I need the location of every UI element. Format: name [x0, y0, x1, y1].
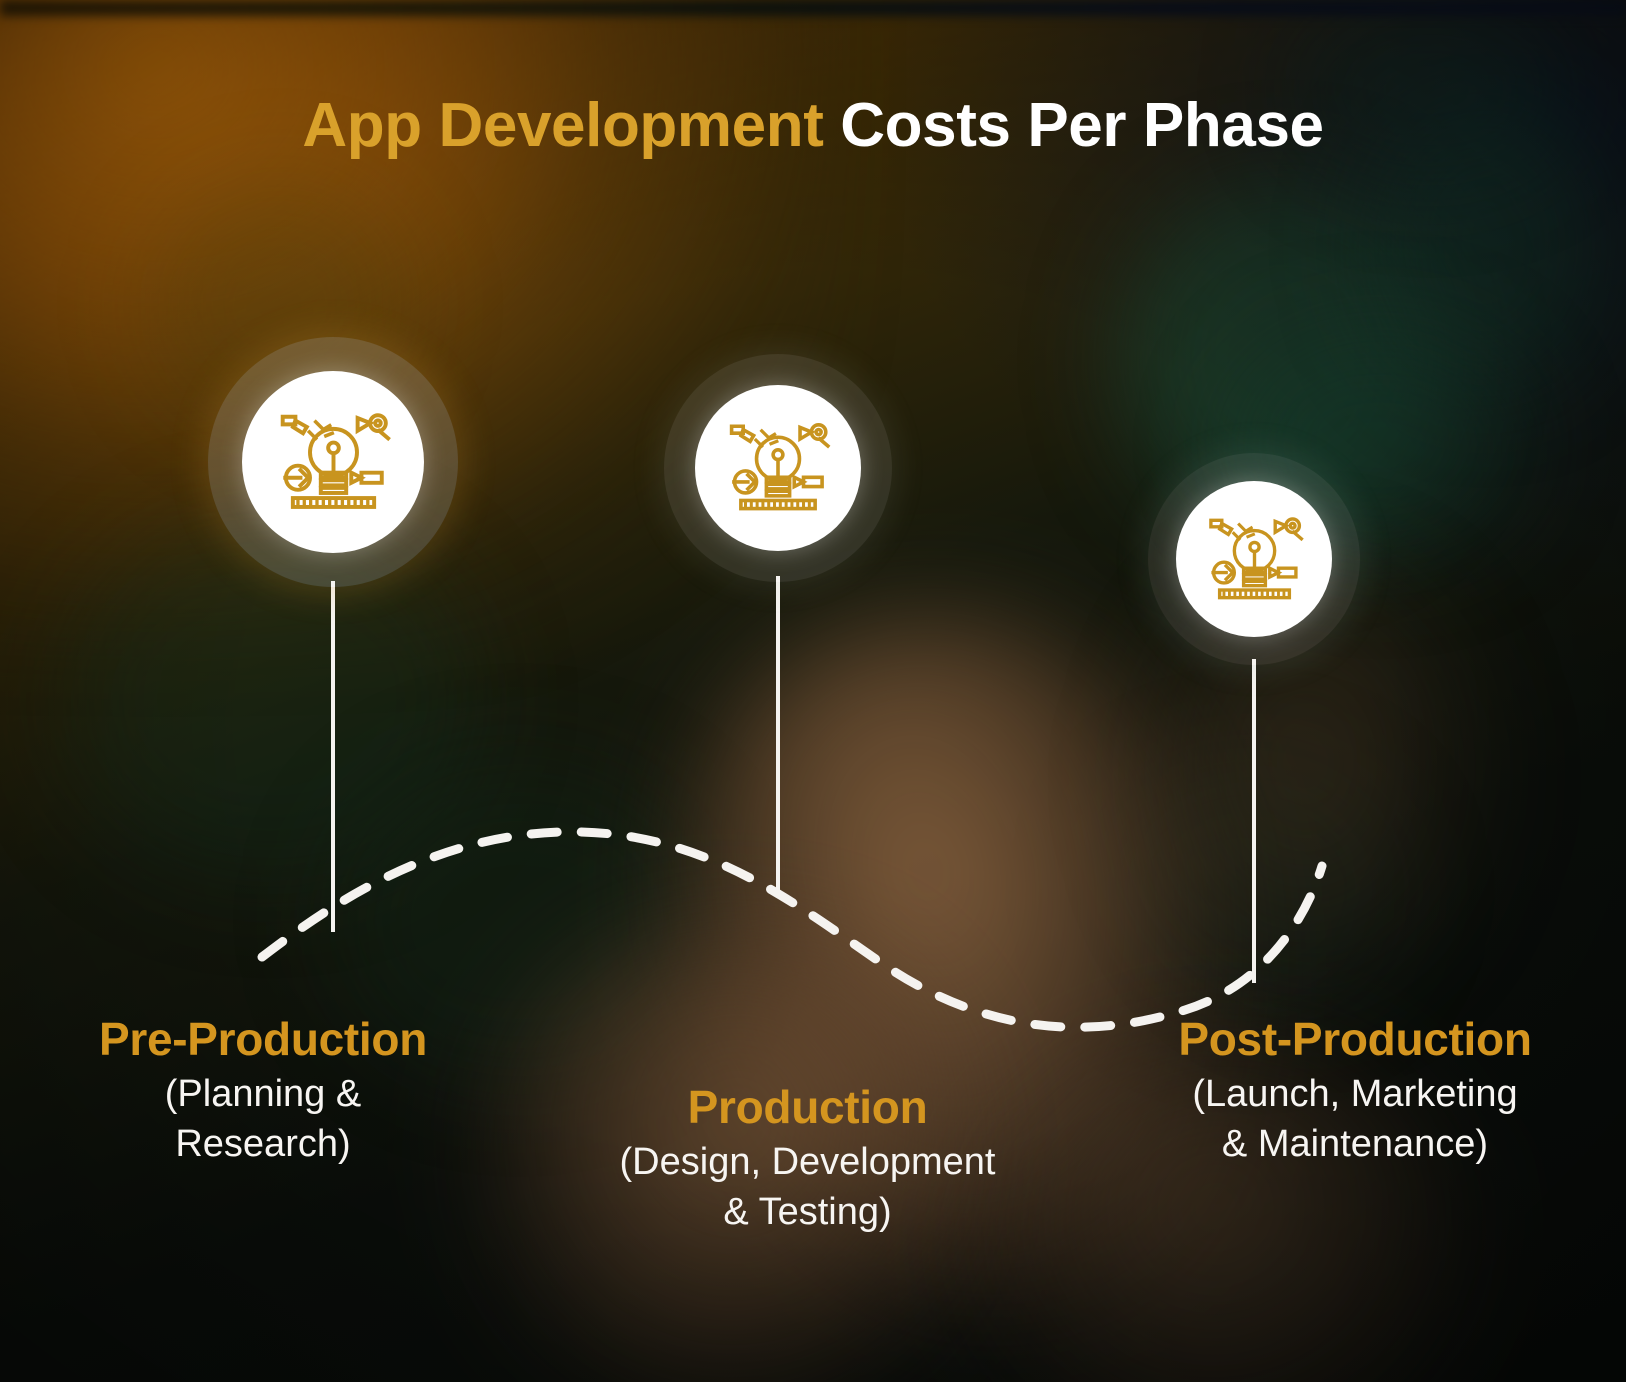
phase-subtitle: (Launch, Marketing & Maintenance) [1085, 1070, 1625, 1169]
marker-pre-production[interactable] [208, 337, 458, 587]
marker-ring [1148, 453, 1360, 665]
marker-disc [242, 371, 424, 553]
lightbulb-prototype-icon [720, 410, 836, 526]
phase-label-post-production: Post-Production (Launch, Marketing & Mai… [1085, 1012, 1625, 1169]
title-rest: Costs Per Phase [823, 91, 1323, 160]
phase-subtitle: (Design, Development & Testing) [545, 1138, 1070, 1237]
marker-post-production[interactable] [1148, 453, 1360, 665]
phase-name: Pre-Production [8, 1012, 518, 1066]
marker-disc [695, 385, 861, 551]
phase-label-pre-production: Pre-Production (Planning & Research) [8, 1012, 518, 1169]
dashed-trend-curve [262, 832, 1322, 1027]
phase-subtitle: (Planning & Research) [8, 1070, 518, 1169]
phase-name: Production [545, 1080, 1070, 1134]
marker-disc [1176, 481, 1332, 637]
marker-ring [208, 337, 458, 587]
marker-ring [664, 354, 892, 582]
title-highlight: App Development [302, 91, 823, 160]
marker-production[interactable] [664, 354, 892, 582]
marker-stems [333, 576, 1254, 983]
lightbulb-prototype-icon [1200, 505, 1309, 614]
phase-label-production: Production (Design, Development & Testin… [545, 1080, 1070, 1237]
infographic-poster: App Development Costs Per Phase [0, 0, 1626, 1382]
page-title: App Development Costs Per Phase [0, 76, 1626, 176]
lightbulb-prototype-icon [270, 399, 397, 526]
phase-name: Post-Production [1085, 1012, 1625, 1066]
